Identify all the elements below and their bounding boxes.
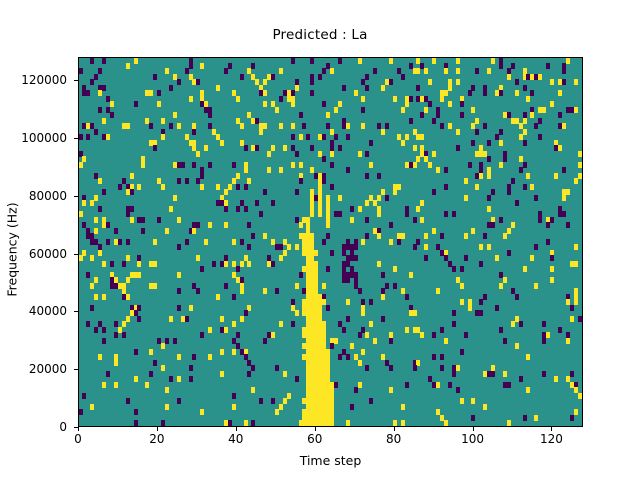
y-tick-label: 40000	[29, 304, 67, 318]
x-tick-label: 80	[386, 432, 401, 446]
y-tick-mark	[74, 311, 78, 312]
y-tick-label: 60000	[29, 247, 67, 261]
x-tick-mark	[473, 427, 474, 431]
y-axis-label: Frequency (Hz)	[5, 150, 20, 350]
x-tick-label: 120	[540, 432, 563, 446]
x-tick-mark	[315, 427, 316, 431]
x-tick-mark	[157, 427, 158, 431]
y-tick-mark	[74, 138, 78, 139]
x-tick-label: 0	[74, 432, 82, 446]
y-tick-label: 100000	[21, 131, 67, 145]
y-tick-label: 120000	[21, 73, 67, 87]
y-tick-label: 0	[59, 420, 67, 434]
x-tick-mark	[394, 427, 395, 431]
y-tick-label: 80000	[29, 189, 67, 203]
spectrogram-heatmap	[79, 58, 582, 426]
page-title: Predicted : La	[0, 27, 640, 43]
x-tick-label: 60	[307, 432, 322, 446]
x-tick-mark	[78, 427, 79, 431]
x-tick-mark	[551, 427, 552, 431]
y-tick-mark	[74, 369, 78, 370]
heatmap-axes	[78, 57, 583, 427]
y-tick-mark	[74, 254, 78, 255]
x-axis-label: Time step	[78, 453, 583, 468]
y-tick-label: 20000	[29, 362, 67, 376]
x-tick-label: 100	[461, 432, 484, 446]
y-tick-mark	[74, 196, 78, 197]
y-tick-mark	[74, 80, 78, 81]
x-tick-mark	[236, 427, 237, 431]
x-tick-label: 20	[149, 432, 164, 446]
x-tick-label: 40	[228, 432, 243, 446]
matplotlib-figure: Predicted : La 0200004000060000800001000…	[0, 0, 640, 480]
